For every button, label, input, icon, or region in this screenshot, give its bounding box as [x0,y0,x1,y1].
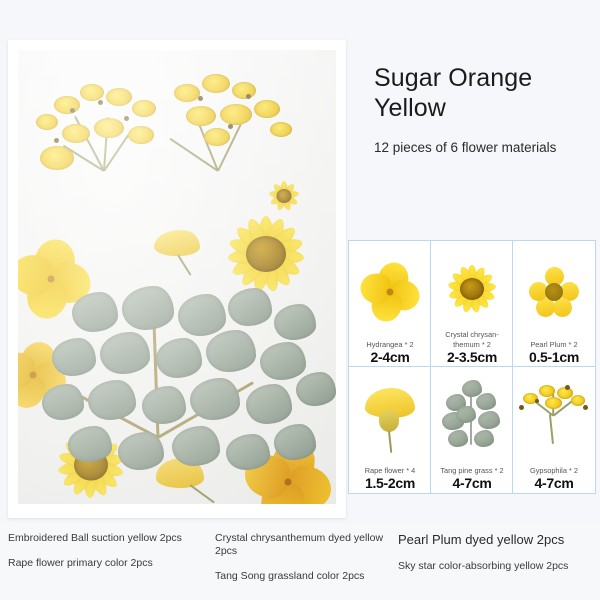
caption-column-3: Pearl Plum dyed yellow 2pcs Sky star col… [398,532,598,585]
spec-cell-tang-pine-grass[interactable]: Tang pine grass * 2 4-7cm [430,366,514,494]
caption-item: Tang Song grassland color 2pcs [215,570,395,583]
spec-cell-size: 4-7cm [453,476,492,490]
pearl-plum-flower-icon [513,241,595,339]
spec-cell-size: 0.5-1cm [529,350,579,364]
spec-cell-gypsophila[interactable]: Gypsophila * 2 4-7cm [512,366,596,494]
spec-cell-size: 4-7cm [535,476,574,490]
gypsophila-sprig-icon [513,367,595,465]
pine-grass-foliage [38,286,336,486]
spec-cell-pearl-plum[interactable]: Pearl Plum * 2 0.5-1cm [512,240,596,368]
spec-cell-name: Pearl Plum * 2 [516,340,593,349]
caption-column-2: Crystal chrysanthemum dyed yellow 2pcs T… [215,532,395,595]
hydrangea-flower-icon [349,241,431,339]
spec-cell-name: Tang pine grass * 2 [434,466,511,475]
gypsophila-spray-right [158,70,308,190]
caption-item: Sky star color-absorbing yellow 2pcs [398,560,598,573]
spec-cell-crystal-chrysanthemum[interactable]: Crystal chrysan-themum * 2 2-3.5cm [430,240,514,368]
spec-cell-size: 2-3.5cm [447,350,497,364]
caption-column-1: Embroidered Ball suction yellow 2pcs Rap… [8,532,198,582]
rape-flower-icon [349,367,431,465]
rape-flower-upper [152,228,208,272]
chrysanthemum-flower-small [264,176,304,216]
pressed-flower-arrangement [18,50,336,504]
caption-item: Pearl Plum dyed yellow 2pcs [398,532,598,548]
spec-cell-hydrangea[interactable]: Hydrangea * 2 2-4cm [348,240,432,368]
caption-strip: Embroidered Ball suction yellow 2pcs Rap… [0,524,600,600]
caption-item: Rape flower primary color 2pcs [8,557,198,570]
spec-cell-name: Gypsophila * 2 [516,466,593,475]
chrysanthemum-flower-icon [431,241,513,330]
spec-cell-size: 1.5-2cm [365,476,415,490]
spec-cell-name: Rape flower * 4 [352,466,429,475]
pine-grass-leaf-icon [431,367,513,465]
caption-item: Embroidered Ball suction yellow 2pcs [8,532,198,545]
spec-cell-name: Hydrangea * 2 [352,340,429,349]
spec-cell-size: 2-4cm [371,350,410,364]
product-subtitle: 12 pieces of 6 flower materials [374,139,570,157]
product-title: Sugar Orange Yellow [374,64,592,123]
spec-cell-rape-flower[interactable]: Rape flower * 4 1.5-2cm [348,366,432,494]
spec-cell-name: Crystal chrysan-themum * 2 [434,330,511,349]
product-photo-card [8,40,346,518]
specimen-spec-grid: Hydrangea * 2 2-4cm Crystal chrysan [348,240,596,494]
caption-item: Crystal chrysanthemum dyed yellow 2pcs [215,532,395,558]
